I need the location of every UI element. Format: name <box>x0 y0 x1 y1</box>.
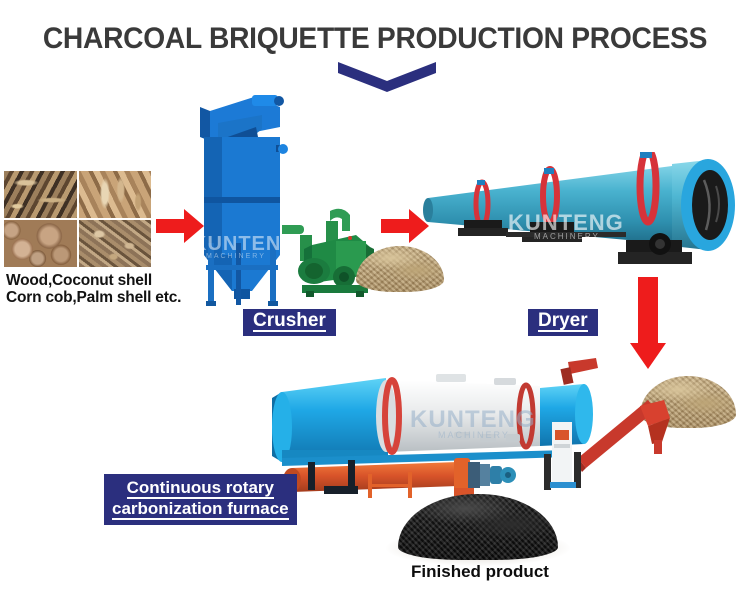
rotary-dryer-drum: KUNTENG MACHINERY <box>422 152 738 278</box>
raw-material-caption: Wood,Coconut shell Corn cob,Palm shell e… <box>6 272 221 306</box>
label-crusher: Crusher <box>243 309 336 336</box>
finished-product-caption: Finished product <box>370 562 590 582</box>
label-furnace-line-2: carbonization furnace <box>112 499 289 520</box>
dust-collector: KUNTENG MACHINERY <box>196 93 288 308</box>
corn-cob-photo <box>79 171 152 218</box>
label-furnace-line-1: Continuous rotary <box>127 478 274 499</box>
palm-shell-photo <box>79 220 152 267</box>
label-dryer-text: Dryer <box>538 312 588 332</box>
arrow-dryer-to-furnace <box>630 277 666 374</box>
carbonization-furnace: KUNTENG MACHINERY <box>268 358 598 498</box>
charcoal-finished-product-pile <box>398 494 558 560</box>
wood-branches-photo <box>4 171 77 218</box>
label-carbonization-furnace: Continuous rotary carbonization furnace <box>104 474 297 525</box>
label-dryer: Dryer <box>528 309 598 336</box>
raw-material-photo-grid <box>4 171 151 267</box>
process-flow-diagram: CHARCOAL BRIQUETTE PRODUCTION PROCESS Wo… <box>0 0 750 600</box>
label-crusher-text: Crusher <box>253 312 326 332</box>
chevron-down-icon <box>338 62 436 92</box>
coconut-shell-photo <box>4 220 77 267</box>
page-title: CHARCOAL BRIQUETTE PRODUCTION PROCESS <box>23 22 728 56</box>
raw-caption-line-1: Wood,Coconut shell <box>6 272 221 289</box>
raw-caption-line-2: Corn cob,Palm shell etc. <box>6 289 221 306</box>
